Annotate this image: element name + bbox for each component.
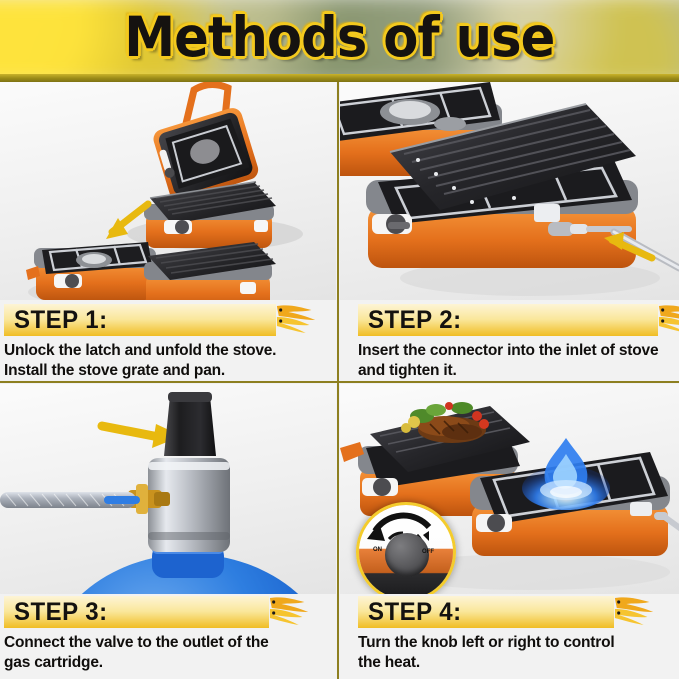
grid-divider-horizontal	[0, 381, 679, 383]
step-1-description: Unlock the latch and unfold the stove. I…	[4, 341, 276, 380]
knob-on-label: ON	[373, 547, 382, 553]
step-4-caption: STEP 4: Turn the knob left or right to c…	[358, 596, 614, 672]
step-4-label: STEP 4:	[368, 598, 462, 627]
step-1-photo	[0, 82, 336, 300]
step-2-banner: STEP 2:	[358, 304, 658, 336]
step-3-label: STEP 3:	[14, 598, 108, 627]
step-2-caption: STEP 2: Insert the connector into the in…	[358, 304, 658, 380]
step-2-description: Insert the connector into the inlet of s…	[358, 341, 658, 380]
step-4-banner: STEP 4:	[358, 596, 614, 628]
step-3-caption: STEP 3: Connect the valve to the outlet …	[4, 596, 269, 672]
step-3-photo	[0, 384, 336, 594]
flame-icon	[615, 596, 655, 628]
knob-magnifier-inset: ON OFF	[356, 502, 456, 594]
step-4-description: Turn the knob left or right to control t…	[358, 633, 614, 672]
gas-cartridge-illustration	[0, 384, 336, 594]
stove-unfold-illustration	[0, 82, 336, 300]
knob-off-label: OFF	[422, 549, 434, 555]
step-1-panel: STEP 1: Unlock the latch and unfold the …	[0, 82, 336, 380]
step-1-label: STEP 1:	[14, 306, 108, 335]
flame-icon	[277, 304, 317, 336]
flame-icon	[659, 304, 679, 336]
step-2-panel: STEP 2: Insert the connector into the in…	[340, 82, 679, 380]
page-title-text: Methods of use	[124, 5, 554, 69]
step-4-photo: ON OFF	[340, 384, 679, 594]
header-banner: Methods of use	[0, 0, 679, 82]
page-title: Methods of use	[0, 0, 679, 74]
step-3-description: Connect the valve to the outlet of the g…	[4, 633, 269, 672]
header-bottom-strip	[0, 74, 679, 82]
control-knob[interactable]	[385, 533, 429, 577]
step-1-banner: STEP 1:	[4, 304, 276, 336]
step-3-banner: STEP 3:	[4, 596, 269, 628]
burner-flame	[522, 438, 610, 510]
stove-connector-illustration	[340, 82, 679, 300]
steps-grid: STEP 1: Unlock the latch and unfold the …	[0, 82, 679, 679]
step-3-panel: STEP 3: Connect the valve to the outlet …	[0, 384, 336, 679]
flame-icon	[269, 596, 309, 628]
step-4-panel: ON OFF STEP 4: Turn th	[340, 384, 679, 679]
step-1-caption: STEP 1: Unlock the latch and unfold the …	[4, 304, 276, 380]
step-2-label: STEP 2:	[368, 306, 462, 335]
infographic-page: Methods of use	[0, 0, 679, 679]
step-2-photo	[340, 82, 679, 300]
